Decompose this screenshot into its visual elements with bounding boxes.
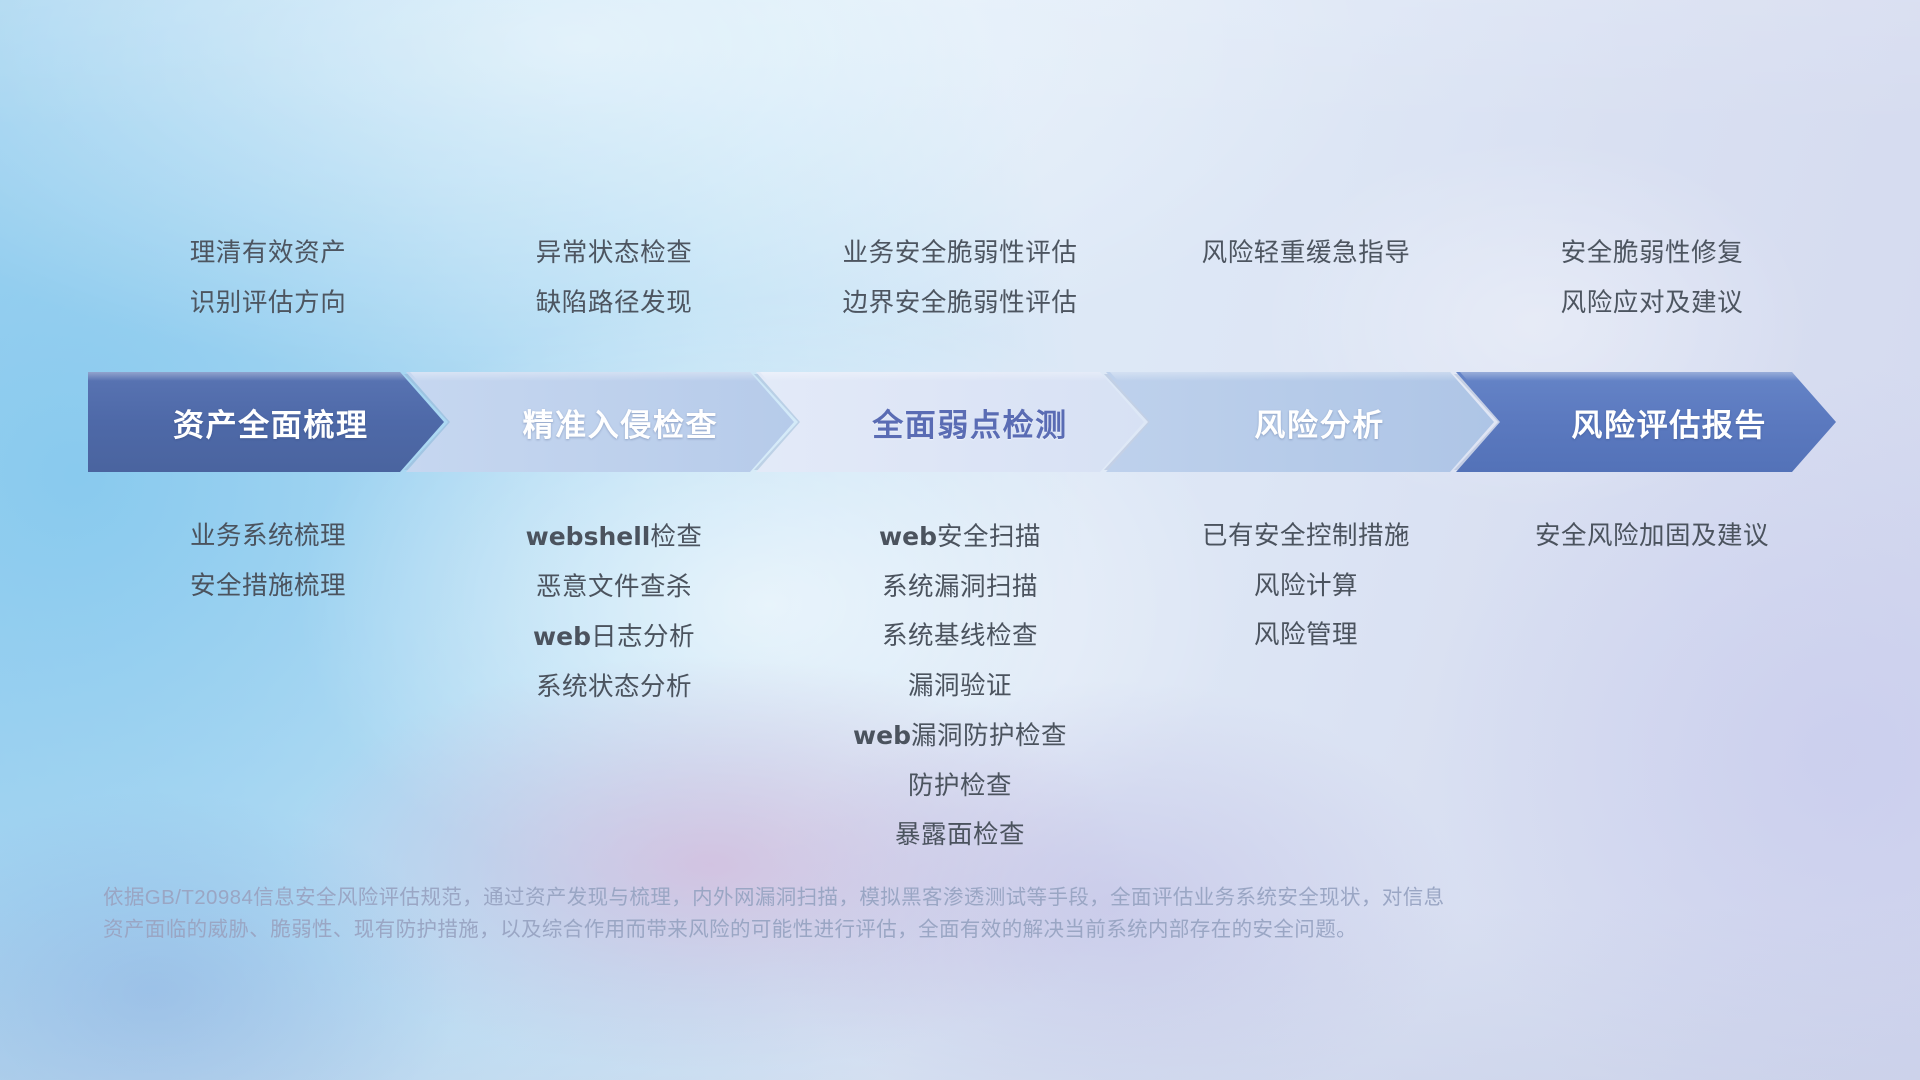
stage-tasks-asset-inventory: 业务系统梳理 安全措施梳理 xyxy=(95,512,441,861)
task-item: 风险管理 xyxy=(1133,611,1479,661)
task-item: 已有安全控制措施 xyxy=(1133,512,1479,562)
stage-tasks-row: 业务系统梳理 安全措施梳理 webshell检查 恶意文件查杀 web日志分析 … xyxy=(95,512,1825,861)
outcome-label: 边界安全脆弱性评估 xyxy=(787,278,1133,328)
task-item: 风险计算 xyxy=(1133,562,1479,612)
task-item: 安全风险加固及建议 xyxy=(1479,512,1825,562)
task-item: 系统状态分析 xyxy=(441,663,787,713)
stage-tasks-risk-report: 安全风险加固及建议 xyxy=(1479,512,1825,861)
task-item-latin: web xyxy=(853,721,911,750)
stage-outcomes-asset-inventory: 理清有效资产 识别评估方向 xyxy=(95,228,441,328)
stage-outcomes-risk-report: 安全脆弱性修复 风险应对及建议 xyxy=(1479,228,1825,328)
stage-outcomes-row: 理清有效资产 识别评估方向 异常状态检查 缺陷路径发现 业务安全脆弱性评估 边界… xyxy=(95,228,1825,328)
outcome-label: 理清有效资产 xyxy=(95,228,441,278)
outcome-label: 异常状态检查 xyxy=(441,228,787,278)
stage-tasks-risk-analysis: 已有安全控制措施 风险计算 风险管理 xyxy=(1133,512,1479,861)
stage-tasks-intrusion-inspection: webshell检查 恶意文件查杀 web日志分析 系统状态分析 xyxy=(441,512,787,861)
chevron-label-intrusion-inspection[interactable]: 精准入侵检查 xyxy=(446,400,796,445)
task-item: web安全扫描 xyxy=(787,512,1133,563)
chevron-label-risk-report[interactable]: 风险评估报告 xyxy=(1494,400,1844,445)
outcome-label: 业务安全脆弱性评估 xyxy=(787,228,1133,278)
slide-canvas: 理清有效资产 识别评估方向 异常状态检查 缺陷路径发现 业务安全脆弱性评估 边界… xyxy=(0,0,1920,1080)
footer-description: 依据GB/T20984信息安全风险评估规范，通过资产发现与梳理，内外网漏洞扫描，… xyxy=(103,882,1623,946)
outcome-label: 缺陷路径发现 xyxy=(441,278,787,328)
stage-outcomes-weakness-detection: 业务安全脆弱性评估 边界安全脆弱性评估 xyxy=(787,228,1133,328)
task-item-latin: web xyxy=(879,522,937,551)
task-item: 漏洞验证 xyxy=(787,662,1133,712)
task-item: 暴露面检查 xyxy=(787,811,1133,861)
outcome-label: 风险应对及建议 xyxy=(1479,278,1825,328)
task-item: 安全措施梳理 xyxy=(95,562,441,612)
task-item: web漏洞防护检查 xyxy=(787,711,1133,762)
task-item: 防护检查 xyxy=(787,762,1133,812)
chevron-label-weakness-detection[interactable]: 全面弱点检测 xyxy=(795,400,1145,445)
chevron-label-asset-inventory[interactable]: 资产全面梳理 xyxy=(96,400,446,445)
stage-outcomes-intrusion-inspection: 异常状态检查 缺陷路径发现 xyxy=(441,228,787,328)
stage-tasks-weakness-detection: web安全扫描 系统漏洞扫描 系统基线检查 漏洞验证 web漏洞防护检查 防护检… xyxy=(787,512,1133,861)
task-item: web日志分析 xyxy=(441,612,787,663)
slide-content: 理清有效资产 识别评估方向 异常状态检查 缺陷路径发现 业务安全脆弱性评估 边界… xyxy=(0,0,1920,1080)
process-chevron-labels: 资产全面梳理 精准入侵检查 全面弱点检测 风险分析 风险评估报告 xyxy=(88,372,1836,472)
task-item: 系统基线检查 xyxy=(787,612,1133,662)
chevron-label-risk-analysis[interactable]: 风险分析 xyxy=(1145,400,1495,445)
task-item: 恶意文件查杀 xyxy=(441,563,787,613)
task-item-latin: web xyxy=(533,622,591,651)
outcome-label: 识别评估方向 xyxy=(95,278,441,328)
footer-line-2: 资产面临的威胁、脆弱性、现有防护措施，以及综合作用而带来风险的可能性进行评估，全… xyxy=(103,914,1623,946)
task-item: webshell检查 xyxy=(441,512,787,563)
outcome-label: 安全脆弱性修复 xyxy=(1479,228,1825,278)
footer-line-1: 依据GB/T20984信息安全风险评估规范，通过资产发现与梳理，内外网漏洞扫描，… xyxy=(103,882,1623,914)
task-item: 系统漏洞扫描 xyxy=(787,563,1133,613)
task-item-latin: webshell xyxy=(526,522,651,551)
stage-outcomes-risk-analysis: 风险轻重缓急指导 xyxy=(1133,228,1479,328)
task-item: 业务系统梳理 xyxy=(95,512,441,562)
outcome-label: 风险轻重缓急指导 xyxy=(1133,228,1479,278)
